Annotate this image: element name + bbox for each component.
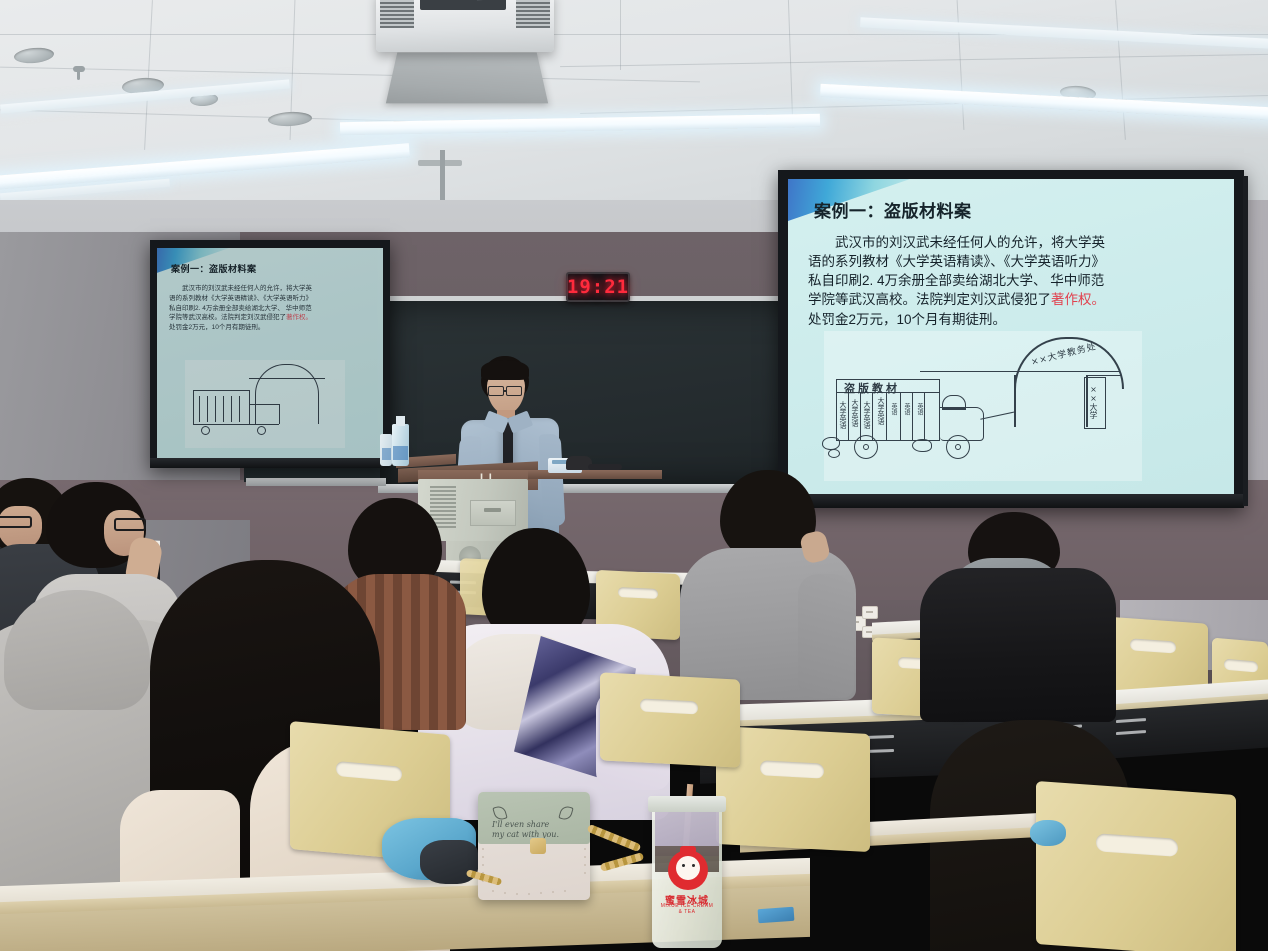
slide-title: 案例一：盗版材料案 <box>171 262 257 275</box>
sanitizer-nozzle <box>396 416 405 426</box>
slide-highlight: 著作权。 <box>286 314 312 321</box>
mascot-eye <box>692 864 695 867</box>
chair-handle-hole <box>1096 833 1178 857</box>
projector-vent-right <box>516 0 550 28</box>
sprinkler-stem <box>77 70 80 80</box>
exhaust-puff <box>912 439 932 452</box>
slide-drawing-truck-and-gate: ××大学教务处 ××大学 盗版教材 大学英语 大学英语 <box>824 331 1142 481</box>
slide-line: 学院等武汉高校。法院判定刘汉武侵犯了著作权。 <box>808 290 1218 309</box>
screen-side-rail <box>1243 176 1248 506</box>
exhaust-puff <box>828 449 840 458</box>
wall-digital-clock: 19:21 <box>566 272 630 302</box>
bubble-tea-brand-subtext: MIXUE ICE CREAM & TEA <box>658 903 716 915</box>
chair-handle-hole <box>640 698 698 714</box>
truck-driver-head <box>942 395 966 409</box>
podium-drawer[interactable] <box>470 500 516 526</box>
main-slide-surface: 案例一：盗版材料案 武汉市的刘汉武未经任何人的允许，将大学英 语的系列教材《大学… <box>788 179 1234 494</box>
handbag-text-line1: I'll even share <box>492 820 549 829</box>
book-label: 英语 <box>915 403 924 415</box>
slide-highlight-copyright: 著作权。 <box>1051 292 1105 307</box>
ceiling-projector <box>376 0 554 52</box>
projector-port-panel <box>420 0 506 10</box>
dark-cloth-item[interactable] <box>420 840 478 884</box>
main-slide-body: 武汉市的刘汉武未经任何人的允许，将大学英 语的系列教材《大学英语精读》、《大学英… <box>808 233 1218 329</box>
chair-handle-hole <box>760 760 824 778</box>
projector-mount-plate <box>386 53 548 104</box>
blue-cloth-item-right[interactable] <box>1030 820 1066 846</box>
screen-weight-bar <box>150 458 390 468</box>
desk-pointer <box>588 464 622 470</box>
sanitizer-label <box>393 446 408 460</box>
slide-line: 武汉市的刘汉武未经任何人的允许，将大学英 <box>808 233 1218 252</box>
slide-drawing-left <box>185 360 345 448</box>
slide-body-left: 武汉市的刘汉武未经任何人的允许，将大学英 语的系列教材《大学英语精读》、《大学英… <box>169 284 373 333</box>
slide-line: 语的系列教材《大学英语精读》、《大学英语听力》 <box>808 252 1218 271</box>
podium-drawer-handle[interactable] <box>484 508 501 512</box>
book-label: 大学英语 <box>838 401 848 429</box>
blue-card-on-desk[interactable] <box>758 907 795 923</box>
handbag-chain <box>587 824 642 852</box>
glasses-lens-left <box>488 386 504 396</box>
book-label: 大学英语 <box>850 399 860 427</box>
glasses-frame <box>114 518 146 531</box>
book-label: 大学英语 <box>862 401 872 429</box>
handbag-text-line2: my cat with you. <box>492 830 559 839</box>
glasses-bridge <box>504 390 507 392</box>
sanitizer-label <box>382 448 391 460</box>
projector-vent-left <box>380 0 414 28</box>
chair-handle-hole <box>336 761 402 782</box>
slide-line: 处罚金2万元，10个月有期徒刑。 <box>808 310 1218 329</box>
chair-handle-hole <box>1224 659 1258 673</box>
mascot-eye <box>682 864 685 867</box>
chair[interactable] <box>1036 781 1236 951</box>
glasses-lens-right <box>506 386 522 396</box>
exhaust-puff <box>822 437 840 450</box>
left-projection-screen: 案例一：盗版材料案 武汉市的刘汉武未经任何人的允许，将大学英 语的系列教材《大学… <box>150 240 390 468</box>
right-projection-screen: 案例一：盗版材料案 武汉市的刘汉武未经任何人的允许，将大学英 语的系列教材《大学… <box>778 170 1244 508</box>
ceiling-grid-line <box>620 0 621 70</box>
left-slide-surface: 案例一：盗版材料案 武汉市的刘汉武未经任何人的允许，将大学英 语的系列教材《大学… <box>157 248 383 458</box>
clock-time-display: 19:21 <box>567 276 629 298</box>
bubble-tea-mascot-face <box>676 856 700 880</box>
student-black-hoodie <box>912 512 1122 722</box>
hoodie-body <box>920 568 1116 722</box>
handbag-clasp <box>530 838 546 854</box>
lecture-hall-photo: 19:21 案例一：盗版材料案 武汉市的刘汉武未经任何人的允许，将大学英 语的系… <box>0 0 1268 951</box>
chair-handle-hole <box>1130 638 1176 653</box>
lecturer-hair-front <box>481 360 529 380</box>
chair[interactable] <box>600 672 740 767</box>
glasses-frame <box>0 516 32 528</box>
slide-line: 私自印刷2. 4万余册全部卖给湖北大学、 华中师范 <box>808 271 1218 290</box>
lecturer-arm-right <box>539 433 566 526</box>
book-label: 英语 <box>902 403 911 415</box>
book-label: 大学英语 <box>876 397 886 425</box>
main-slide-title: 案例一：盗版材料案 <box>814 197 972 222</box>
bubble-tea-lid <box>648 796 726 812</box>
bubble-tea-mascot-crown <box>680 846 696 854</box>
gate-pillar-text: ××大学 <box>1088 385 1099 419</box>
student-grey-longsleeve <box>680 470 880 700</box>
book-label: 英语 <box>889 403 898 415</box>
chalkboard-tray-left <box>246 478 386 486</box>
student-arm-raised <box>798 574 854 698</box>
